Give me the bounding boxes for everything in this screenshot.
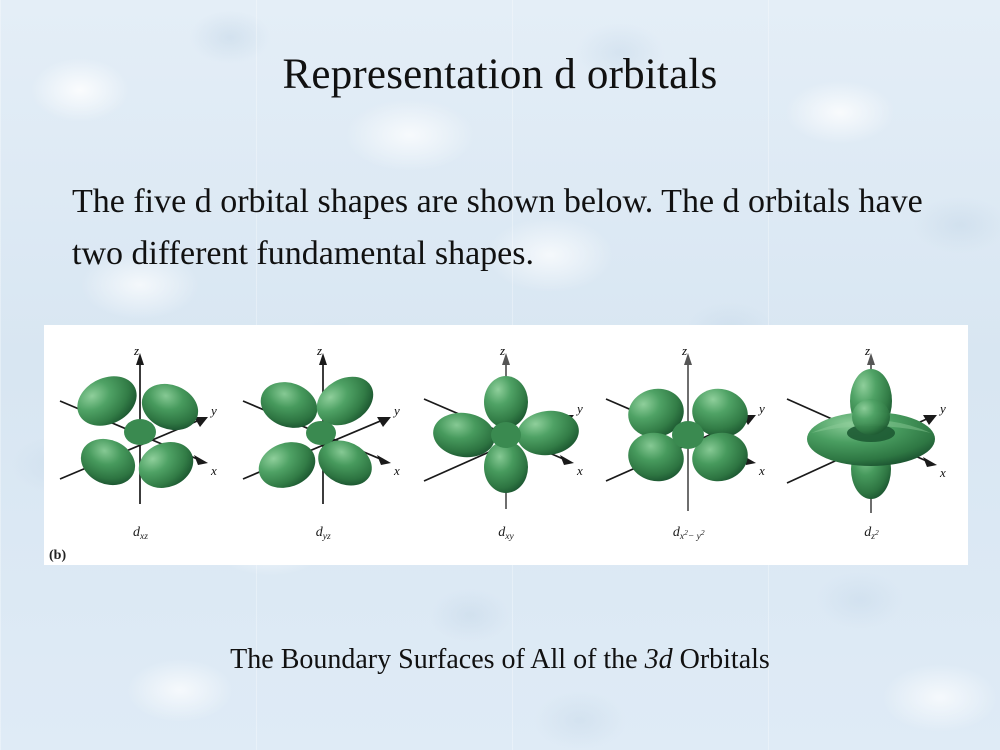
caption-prefix: The Boundary Surfaces of All of the — [230, 644, 644, 675]
body-paragraph: The five d orbital shapes are shown belo… — [72, 176, 938, 279]
d-xz-orbital-label: dxz — [50, 525, 231, 541]
orbital-label-sub: xz — [140, 532, 148, 542]
d-x2-y2-orbital-graphic: z y x — [598, 329, 779, 534]
d-x2-y2-orbital-label: dx2− y2 — [598, 525, 779, 541]
d-x2-y2-orbital: z y x dx2− y2 — [598, 329, 779, 563]
y-axis-label: y — [575, 401, 583, 416]
x-axis-arrow — [560, 455, 574, 465]
sub-x-exp: 2 — [684, 528, 688, 537]
z-axis-label: z — [864, 343, 870, 358]
z-axis-label: z — [499, 343, 505, 358]
x-axis-label: x — [210, 463, 217, 478]
orbital-label-sub: yz — [323, 532, 331, 542]
x-axis-label: x — [393, 463, 400, 478]
d-yz-orbital-graphic: z y x — [233, 329, 414, 534]
caption-italic-3d: 3d — [645, 644, 673, 675]
y-axis-label: y — [392, 403, 400, 418]
d-xy-orbital-graphic: z y x — [416, 329, 597, 534]
orbital-label-base: d — [673, 525, 680, 540]
sub-z-exp: 2 — [875, 528, 879, 537]
orbital-label-sub: xy — [505, 532, 513, 542]
y-axis-label: y — [938, 401, 946, 416]
x-axis-label: x — [758, 463, 765, 478]
orbital-lobes — [69, 367, 205, 496]
d-xz-orbital: z y x dxz — [50, 329, 231, 563]
y-axis-label: y — [757, 401, 765, 416]
z-axis-label: z — [133, 343, 139, 358]
orbital-lobes — [430, 376, 582, 493]
x-axis-label: x — [576, 463, 583, 478]
d-z2-orbital: z y x dz2 — [781, 329, 962, 563]
d-xy-orbital: z y x dxy — [416, 329, 597, 563]
orbital-label-base: d — [133, 525, 140, 540]
d-xz-orbital-graphic: z y x — [50, 329, 231, 534]
x-axis-arrow — [923, 457, 937, 467]
y-axis-label: y — [209, 403, 217, 418]
orbital-label-sub: z2 — [871, 532, 878, 542]
z-axis-label: z — [316, 343, 322, 358]
orbital-lobes — [807, 369, 935, 499]
orbital-label-sub: x2− y2 — [680, 532, 705, 542]
d-z2-orbital-graphic: z y x — [781, 329, 962, 534]
orbitals-row: z y x dxz — [44, 325, 968, 565]
caption-suffix: Orbitals — [673, 644, 770, 675]
d-z2-orbital-label: dz2 — [781, 525, 962, 541]
orbitals-figure-panel: z y x dxz — [44, 325, 968, 565]
figure-tag: (b) — [49, 548, 66, 564]
orbital-lobes — [252, 367, 382, 496]
sub-minus-y: − y — [688, 532, 701, 542]
x-axis-arrow — [377, 455, 391, 465]
page-title: Representation d orbitals — [0, 51, 1000, 98]
figure-caption: The Boundary Surfaces of All of the 3d O… — [0, 644, 1000, 676]
slide-canvas: Representation d orbitals The five d orb… — [0, 0, 1000, 750]
z-axis-label: z — [681, 343, 687, 358]
d-yz-orbital-label: dyz — [233, 525, 414, 541]
x-axis-label: x — [939, 465, 946, 480]
sub-y-exp: 2 — [701, 528, 705, 537]
d-xy-orbital-label: dxy — [416, 525, 597, 541]
d-yz-orbital: z y x dyz — [233, 329, 414, 563]
x-axis-arrow — [194, 455, 208, 465]
orbital-label-base: d — [316, 525, 323, 540]
